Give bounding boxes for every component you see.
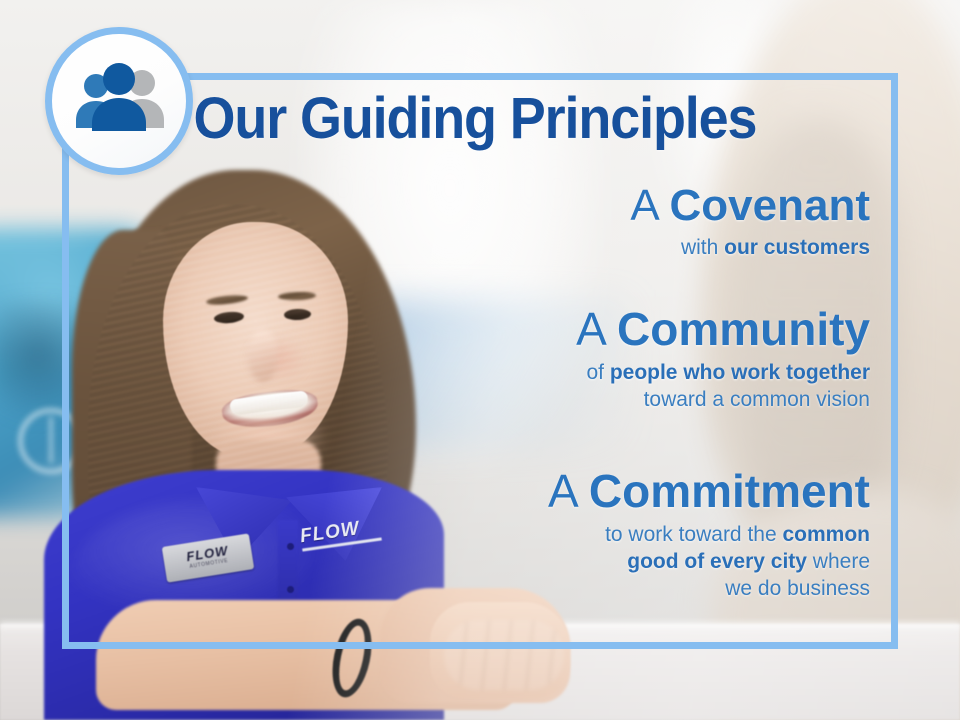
principle-subtext-line: toward a common vision: [62, 387, 870, 414]
principle-subtext: of people who work together toward a com…: [62, 360, 870, 414]
subtext-lead: to work toward the: [605, 523, 782, 546]
principle-subtext-line: to work toward the common: [62, 522, 870, 549]
principle-keyword: Commitment: [589, 465, 870, 517]
principle-community: A Community of people who work together …: [62, 306, 870, 414]
subtext-lead: of: [586, 361, 609, 384]
principle-covenant: A Covenant with our customers: [62, 183, 870, 262]
subtext-lead: with: [681, 236, 724, 259]
principle-subtext-line: with our customers: [62, 235, 870, 262]
principle-article: A: [576, 303, 617, 355]
principle-subtext-line: we do business: [62, 576, 870, 603]
principle-heading: A Commitment: [62, 468, 870, 516]
principle-heading: A Covenant: [62, 183, 870, 229]
subtext-tail: where: [807, 550, 870, 573]
principle-subtext-line: good of every city where: [62, 549, 870, 576]
principle-commitment: A Commitment to work toward the common g…: [62, 468, 870, 602]
principle-article: A: [630, 181, 669, 230]
subtext-lead: we do business: [725, 577, 870, 600]
guiding-principles-graphic: FLOW AUTOMOTIVE FLOW Our Guiding Princip…: [0, 0, 960, 720]
subtext-lead: toward a common vision: [644, 388, 870, 411]
principle-keyword: Community: [617, 303, 870, 355]
principle-article: A: [548, 465, 589, 517]
principle-subtext: to work toward the common good of every …: [62, 522, 870, 603]
subtext-strong: good of every city: [627, 550, 807, 573]
subtext-strong: our customers: [724, 236, 870, 259]
principle-subtext: with our customers: [62, 235, 870, 262]
text-content: Our Guiding Principles A Covenant with o…: [62, 73, 898, 649]
page-title: Our Guiding Principles: [91, 90, 859, 148]
subtext-strong: common: [782, 523, 870, 546]
principle-subtext-line: of people who work together: [62, 360, 870, 387]
principle-heading: A Community: [62, 306, 870, 354]
principle-keyword: Covenant: [670, 181, 870, 230]
subtext-strong: people who work together: [610, 361, 870, 384]
